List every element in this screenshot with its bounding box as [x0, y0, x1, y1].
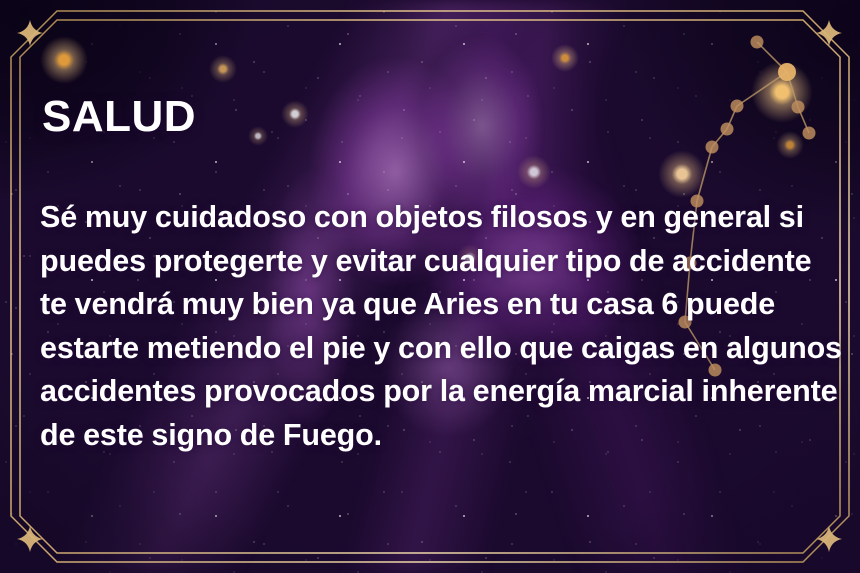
horoscope-body: Sé muy cuidadoso con objetos filosos y e…	[40, 196, 846, 457]
page-title: SALUD	[42, 92, 196, 142]
horoscope-card: SALUD Sé muy cuidadoso con objetos filos…	[0, 0, 860, 573]
card-content: SALUD Sé muy cuidadoso con objetos filos…	[40, 0, 850, 573]
